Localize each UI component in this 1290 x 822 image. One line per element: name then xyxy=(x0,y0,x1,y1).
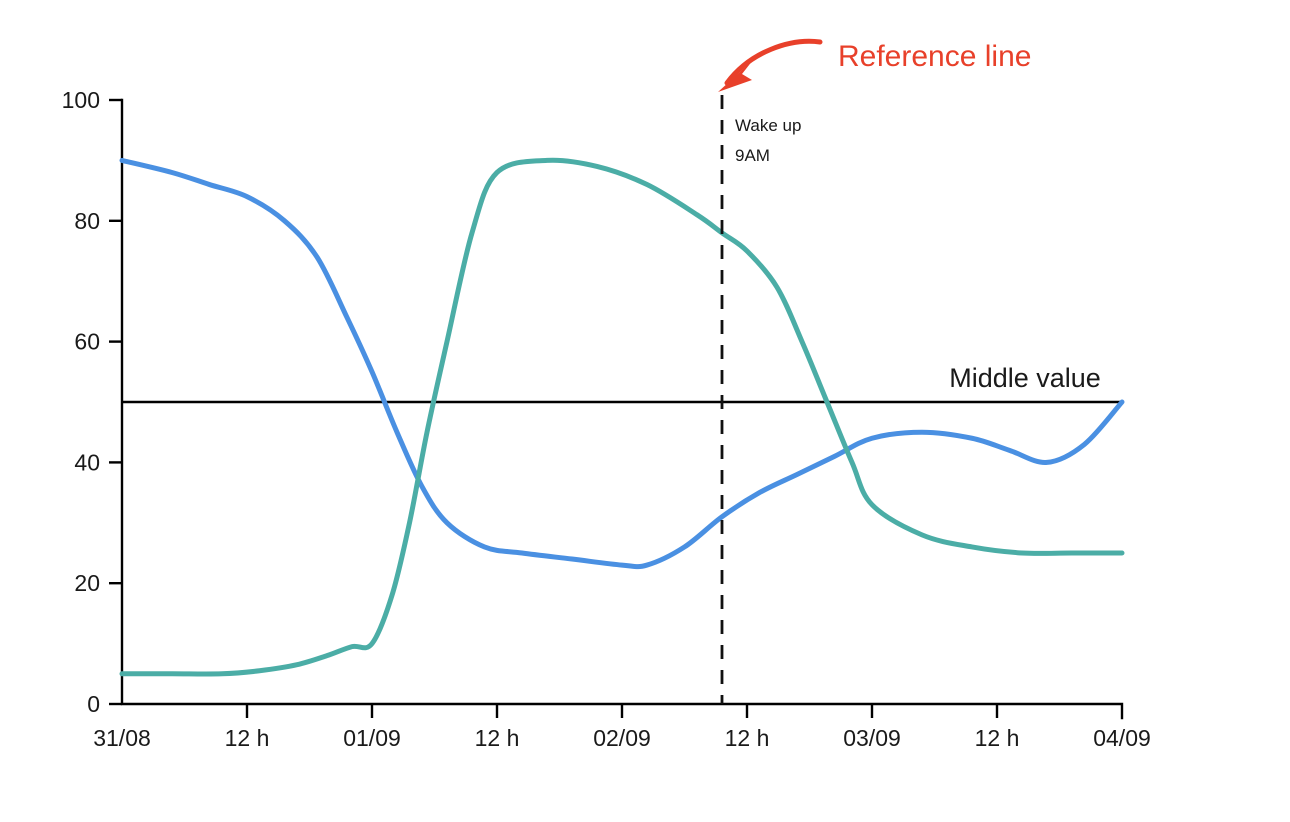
line-chart: 020406080100 31/0812 h01/0912 h02/0912 h… xyxy=(0,0,1290,822)
reference-label-line-2: 9AM xyxy=(735,146,770,165)
y-tick-label: 60 xyxy=(74,329,100,355)
x-tick-label: 12 h xyxy=(225,725,270,751)
x-tick-label: 12 h xyxy=(975,725,1020,751)
x-tick-label: 04/09 xyxy=(1093,725,1151,751)
x-tick-label: 31/08 xyxy=(93,725,151,751)
reference-line-group: Wake up 9AM xyxy=(722,95,801,704)
x-axis-tick-labels: 31/0812 h01/0912 h02/0912 h03/0912 h04/0… xyxy=(93,725,1151,751)
series-group xyxy=(122,160,1122,674)
x-tick-label: 12 h xyxy=(475,725,520,751)
axes-group xyxy=(109,100,1122,718)
y-tick-label: 20 xyxy=(74,570,100,596)
middle-value-group: Middle value xyxy=(122,363,1122,402)
y-tick-label: 80 xyxy=(74,208,100,234)
axis-lines xyxy=(122,100,1122,718)
middle-value-label: Middle value xyxy=(949,363,1101,393)
series-teal-series xyxy=(122,160,1122,674)
x-tick-label: 03/09 xyxy=(843,725,901,751)
y-axis-tick-labels: 020406080100 xyxy=(62,87,100,717)
annotation-label: Reference line xyxy=(838,40,1031,73)
y-tick-label: 100 xyxy=(62,87,100,113)
reference-label-line-1: Wake up xyxy=(735,116,801,135)
annotation-group: Reference line xyxy=(718,40,1031,92)
x-tick-marks xyxy=(247,704,997,718)
y-tick-label: 40 xyxy=(74,449,100,475)
chart-container: 020406080100 31/0812 h01/0912 h02/0912 h… xyxy=(0,0,1290,822)
x-tick-label: 12 h xyxy=(725,725,770,751)
y-tick-marks xyxy=(109,100,122,704)
x-tick-label: 02/09 xyxy=(593,725,651,751)
arrow-head-icon xyxy=(718,60,753,92)
y-tick-label: 0 xyxy=(87,691,100,717)
x-tick-label: 01/09 xyxy=(343,725,401,751)
